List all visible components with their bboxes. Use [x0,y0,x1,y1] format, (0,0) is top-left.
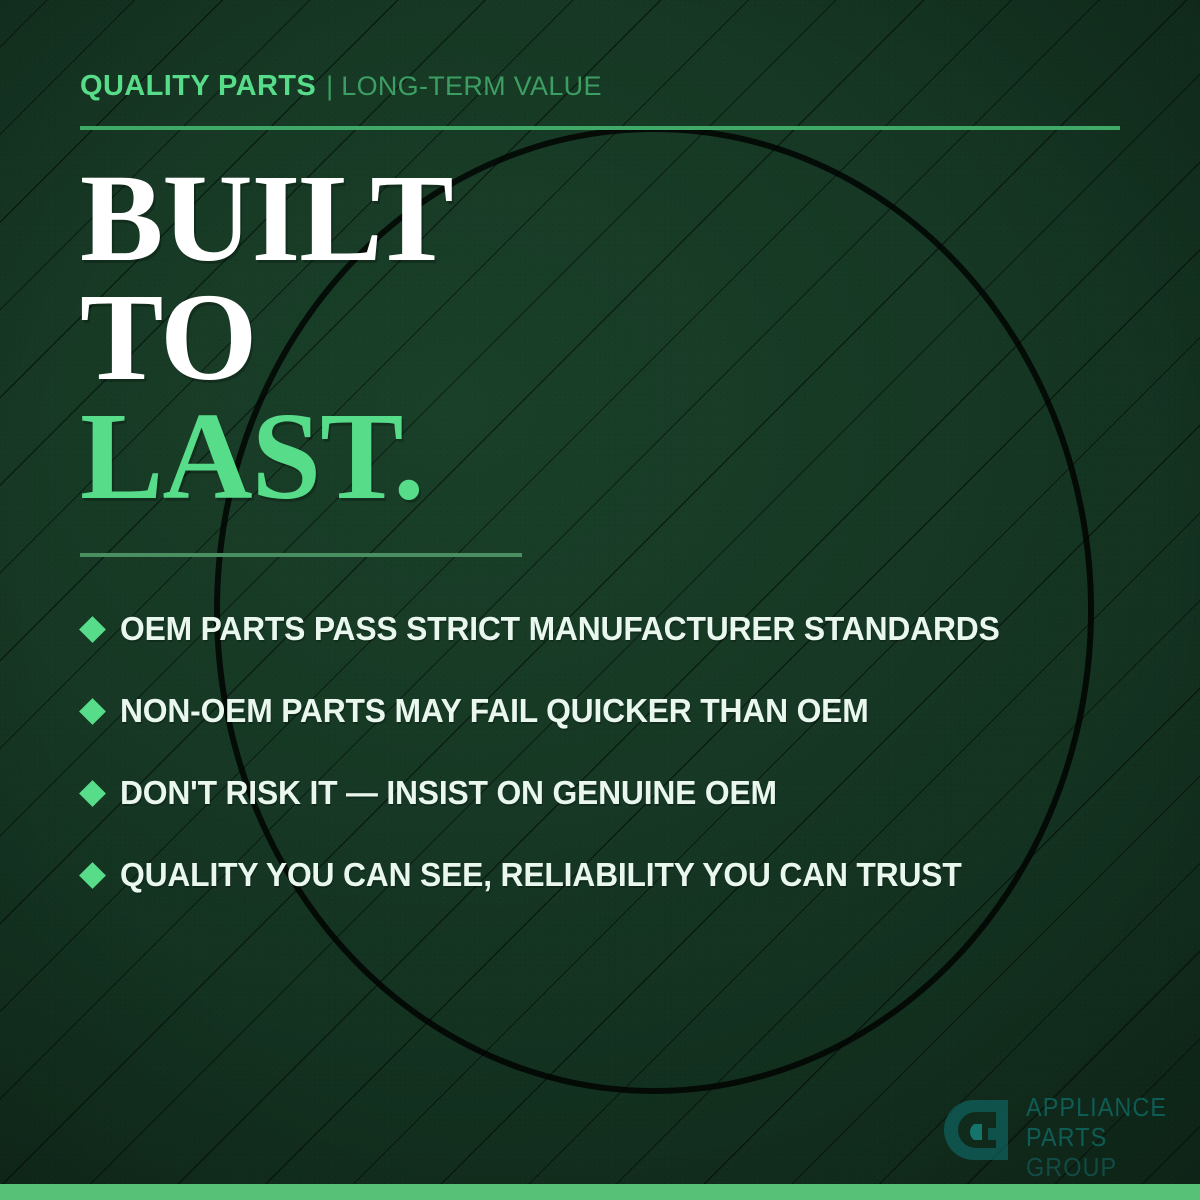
eyebrow-main-label: QUALITY PARTS [80,70,316,102]
headline-line-3: LAST. [80,398,453,517]
list-item: NON-OEM PARTS MAY FAIL QUICKER THAN OEM [80,670,1150,752]
brand-logo: APPLIANCE PARTS GROUP [944,1092,1183,1182]
list-item-label: QUALITY YOU CAN SEE, RELIABILITY YOU CAN… [120,856,962,894]
diamond-bullet-icon [79,616,106,643]
diamond-bullet-icon [79,862,106,889]
page-title: BUILT TO LAST. [80,160,453,516]
eyebrow: QUALITY PARTS| LONG-TERM VALUE [80,72,602,101]
headline-line-1: BUILT [80,160,453,279]
list-item-label: NON-OEM PARTS MAY FAIL QUICKER THAN OEM [120,692,869,730]
headline-divider-rule [80,553,522,557]
poster-canvas: QUALITY PARTS| LONG-TERM VALUE BUILT TO … [0,0,1200,1200]
list-item: DON'T RISK IT — INSIST ON GENUINE OEM [80,752,1150,834]
appliance-parts-group-g-mark-icon [944,1092,1016,1179]
headline-line-2: TO [80,279,453,398]
bottom-accent-bar [0,1184,1200,1200]
list-item: QUALITY YOU CAN SEE, RELIABILITY YOU CAN… [80,834,1150,916]
brand-logo-line-3: GROUP [1026,1152,1167,1182]
brand-logo-line-1: APPLIANCE [1026,1092,1167,1122]
list-item-label: OEM PARTS PASS STRICT MANUFACTURER STAND… [120,610,1000,648]
poster-content: QUALITY PARTS| LONG-TERM VALUE BUILT TO … [0,0,1200,1200]
brand-logo-wordmark: APPLIANCE PARTS GROUP [1026,1092,1167,1182]
brand-logo-line-2: PARTS [1026,1122,1167,1152]
diamond-bullet-icon [79,780,106,807]
header-divider-rule [80,126,1120,130]
list-item-label: DON'T RISK IT — INSIST ON GENUINE OEM [120,774,777,812]
benefits-list: OEM PARTS PASS STRICT MANUFACTURER STAND… [80,588,1150,916]
eyebrow-sub-label: | LONG-TERM VALUE [326,71,602,101]
list-item: OEM PARTS PASS STRICT MANUFACTURER STAND… [80,588,1150,670]
diamond-bullet-icon [79,698,106,725]
